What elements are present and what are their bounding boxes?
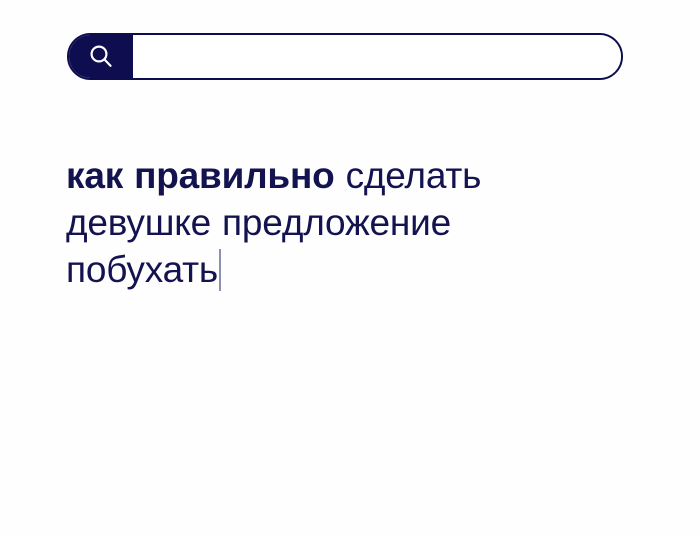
search-icon — [86, 42, 116, 72]
search-input-area[interactable] — [133, 35, 621, 78]
query-line-2-normal: девушке предложение — [66, 202, 451, 243]
search-bar[interactable] — [67, 33, 623, 80]
query-line-2: девушке предложение — [66, 199, 626, 246]
page-canvas: как правильно сделать девушке предложени… — [0, 0, 700, 535]
query-line-3-normal: побухать — [66, 249, 218, 290]
query-line-3: побухать — [66, 246, 626, 293]
query-text-block: как правильно сделать девушке предложени… — [66, 152, 626, 293]
query-line-1-bold: как правильно — [66, 155, 335, 196]
text-cursor-caret — [219, 249, 221, 291]
search-icon-block[interactable] — [67, 33, 133, 80]
query-line-1: как правильно сделать — [66, 152, 626, 199]
query-line-1-normal: сделать — [335, 155, 482, 196]
